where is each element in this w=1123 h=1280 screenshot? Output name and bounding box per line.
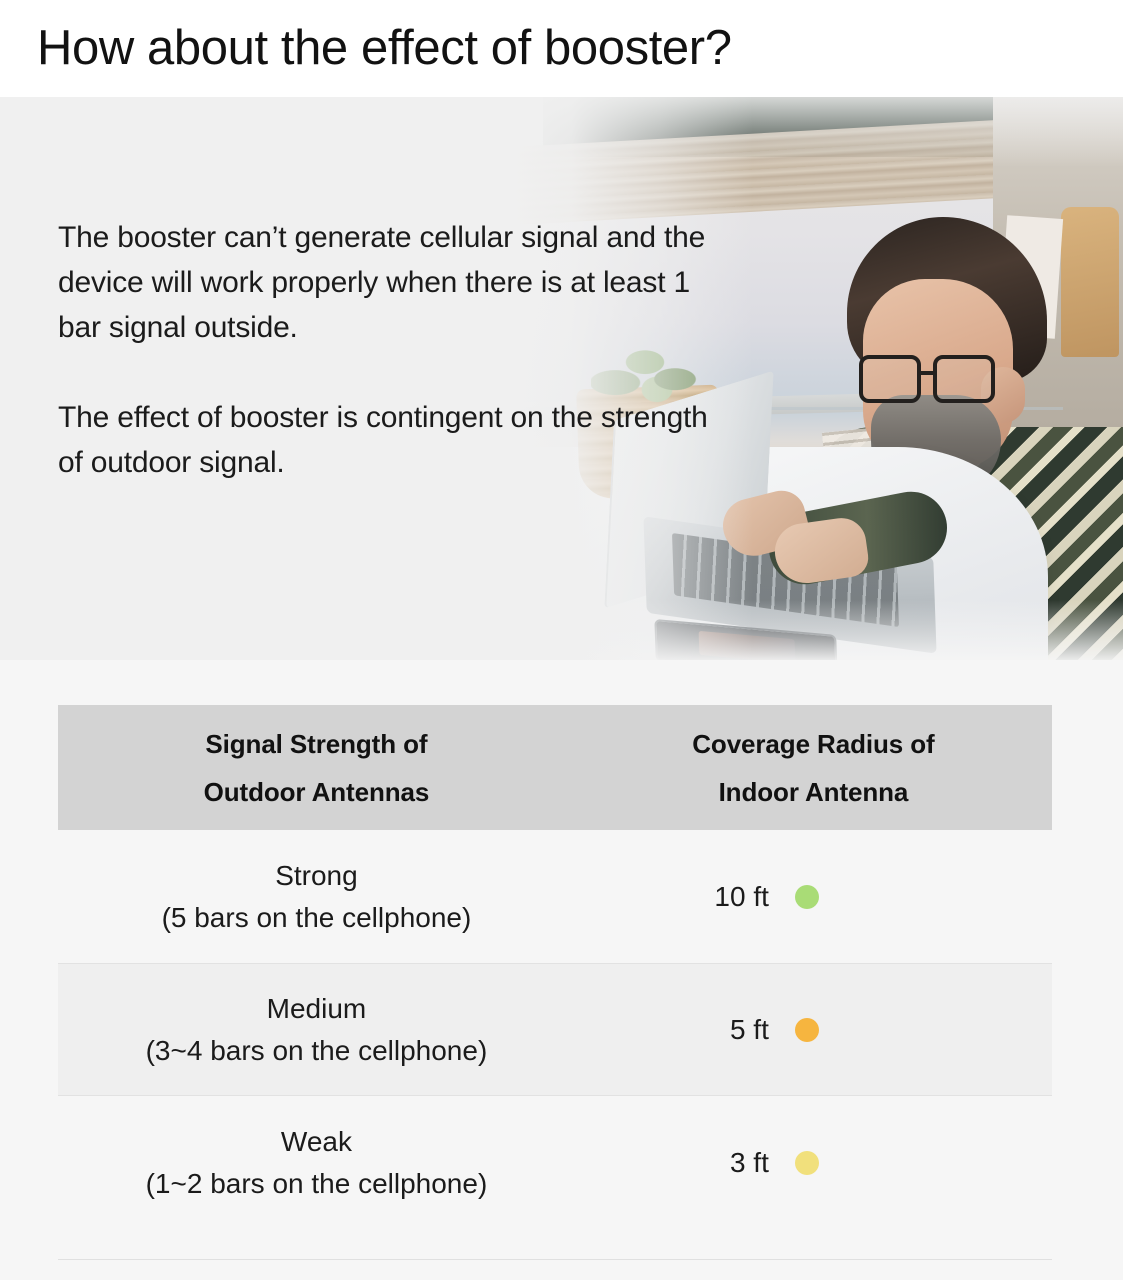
table-bottom-divider	[58, 1259, 1052, 1260]
status-dot-amber	[795, 1018, 819, 1042]
person-head	[841, 217, 1051, 467]
lower-section: Signal Strength of Outdoor Antennas Cove…	[0, 660, 1123, 1280]
coverage-radius-value: 3 ft	[695, 1147, 769, 1179]
hero-copy: The booster can’t generate cellular sign…	[58, 215, 718, 485]
cell-signal-strength: Medium (3~4 bars on the cellphone)	[58, 988, 575, 1072]
glasses-lens-left	[859, 355, 921, 403]
header-col1-line2: Outdoor Antennas	[204, 768, 430, 816]
header-col2-line1: Coverage Radius of	[692, 720, 934, 768]
cell-coverage-radius: 10 ft	[575, 881, 1052, 913]
signal-strength-label: Weak	[281, 1121, 352, 1163]
signal-bars-label: (1~2 bars on the cellphone)	[146, 1163, 488, 1205]
header-col1-line1: Signal Strength of	[205, 720, 427, 768]
signal-strength-label: Strong	[275, 855, 358, 897]
cell-coverage-radius: 5 ft	[575, 1014, 1052, 1046]
signal-bars-label: (5 bars on the cellphone)	[162, 897, 472, 939]
cell-signal-strength: Strong (5 bars on the cellphone)	[58, 855, 575, 939]
coverage-table: Signal Strength of Outdoor Antennas Cove…	[58, 705, 1052, 1260]
hero-paragraph-2: The effect of booster is contingent on t…	[58, 395, 718, 485]
page-title: How about the effect of booster?	[0, 24, 732, 73]
title-bar: How about the effect of booster?	[0, 0, 1123, 97]
cutting-board	[1061, 207, 1119, 357]
status-dot-green	[795, 885, 819, 909]
table-row: Strong (5 bars on the cellphone) 10 ft	[58, 830, 1052, 963]
eyeglasses-icon	[859, 355, 1007, 407]
signal-bars-label: (3~4 bars on the cellphone)	[146, 1030, 488, 1072]
cell-coverage-radius: 3 ft	[575, 1147, 1052, 1179]
hero-section: The booster can’t generate cellular sign…	[0, 97, 1123, 660]
status-dot-yellow	[795, 1151, 819, 1175]
table-row: Weak (1~2 bars on the cellphone) 3 ft	[58, 1096, 1052, 1229]
coverage-radius-value: 5 ft	[695, 1014, 769, 1046]
table-header-coverage-radius: Coverage Radius of Indoor Antenna	[575, 705, 1052, 830]
infographic-page: How about the effect of booster?	[0, 0, 1123, 1280]
hero-paragraph-1: The booster can’t generate cellular sign…	[58, 215, 718, 350]
cell-signal-strength: Weak (1~2 bars on the cellphone)	[58, 1121, 575, 1205]
signal-strength-label: Medium	[267, 988, 367, 1030]
glasses-lens-right	[933, 355, 995, 403]
table-header-signal-strength: Signal Strength of Outdoor Antennas	[58, 705, 575, 830]
coverage-radius-value: 10 ft	[695, 881, 769, 913]
table-header-row: Signal Strength of Outdoor Antennas Cove…	[58, 705, 1052, 830]
header-col2-line2: Indoor Antenna	[719, 768, 909, 816]
table-row: Medium (3~4 bars on the cellphone) 5 ft	[58, 963, 1052, 1096]
